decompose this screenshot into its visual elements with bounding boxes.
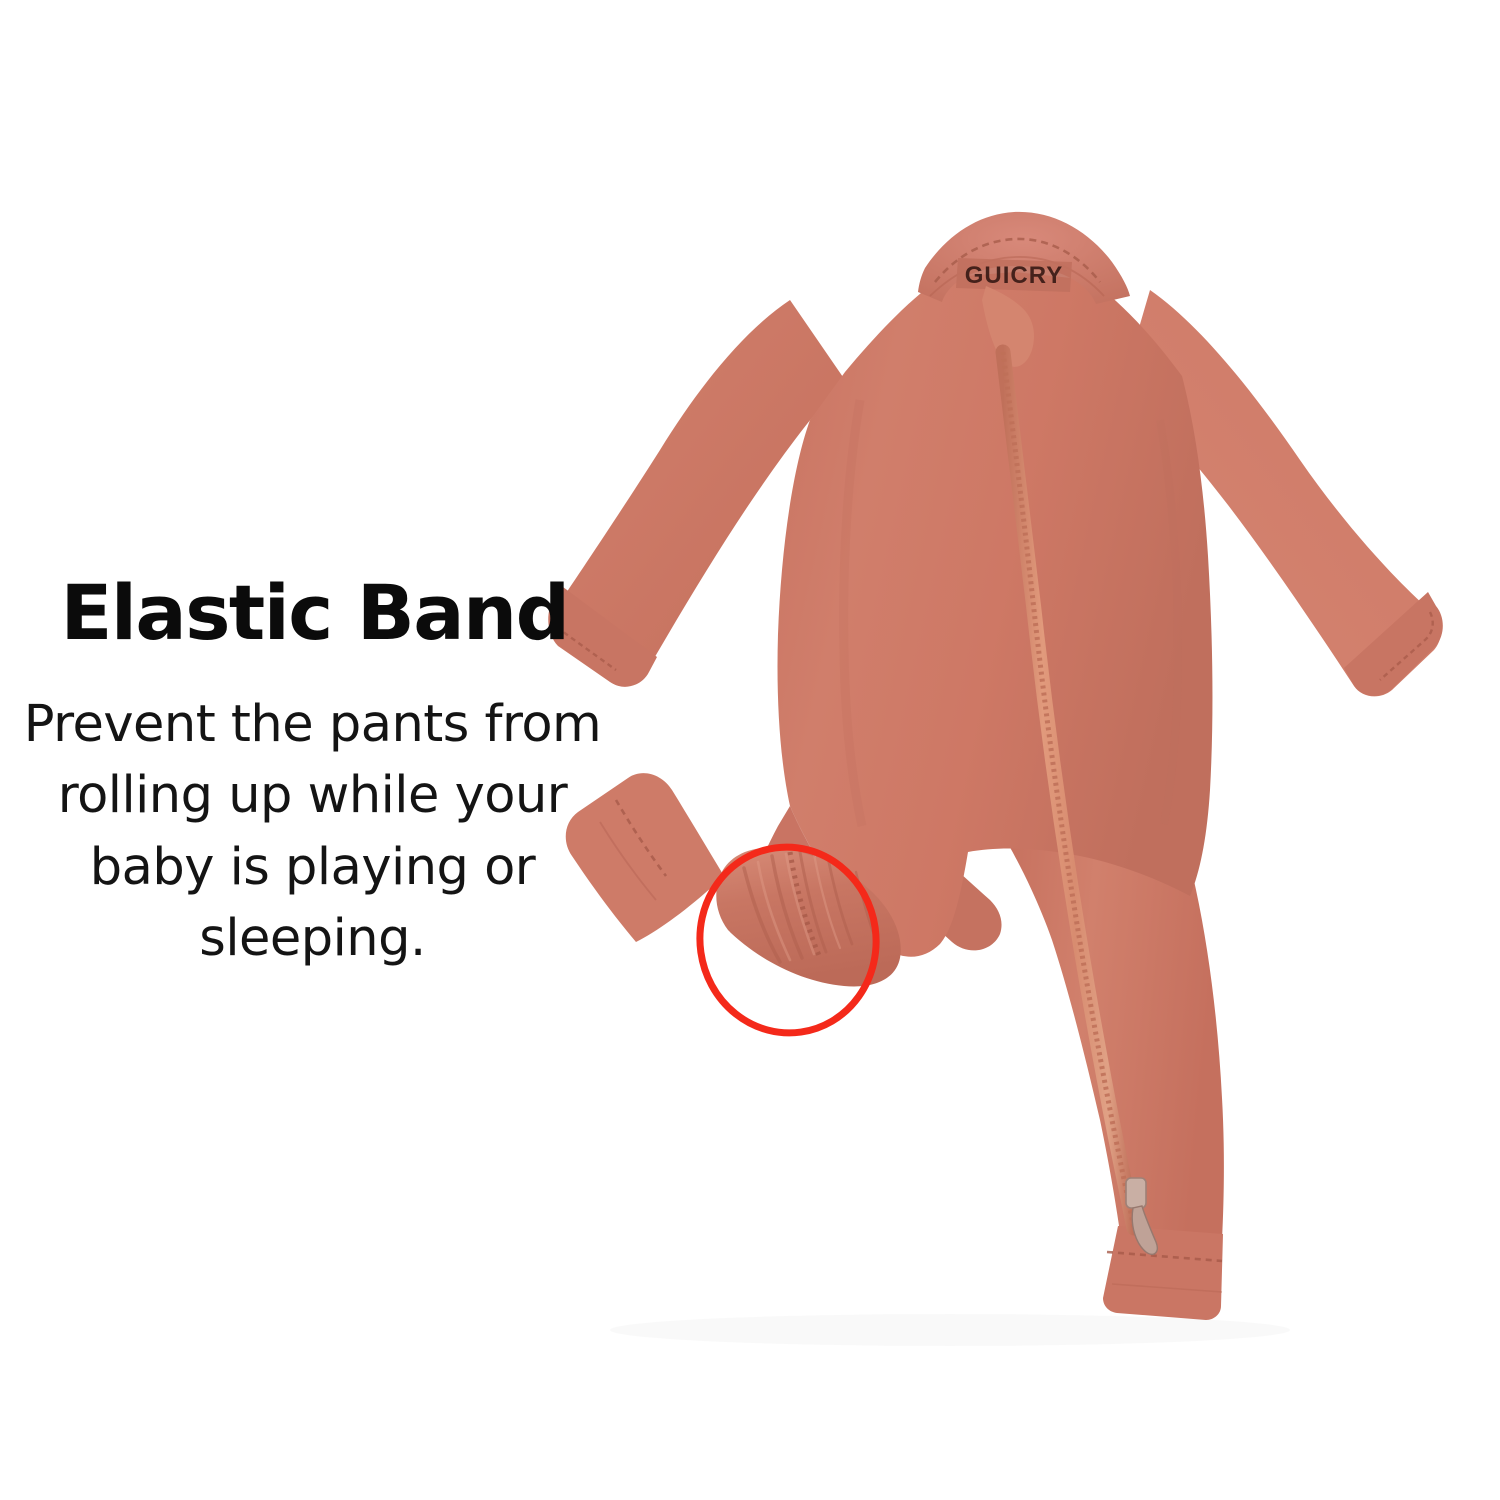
feature-text-panel: Elastic Band Prevent the pants from roll… [0,575,625,975]
feature-description: Prevent the pants from rolling up while … [0,689,625,975]
right-ankle-cuff [1103,1226,1223,1320]
torso [778,272,1213,957]
brand-label: GUICRY [956,258,1072,292]
product-feature-page: GUICRY [0,0,1500,1500]
brand-label-text: GUICRY [965,262,1063,289]
feature-title: Elastic Band [0,575,625,651]
